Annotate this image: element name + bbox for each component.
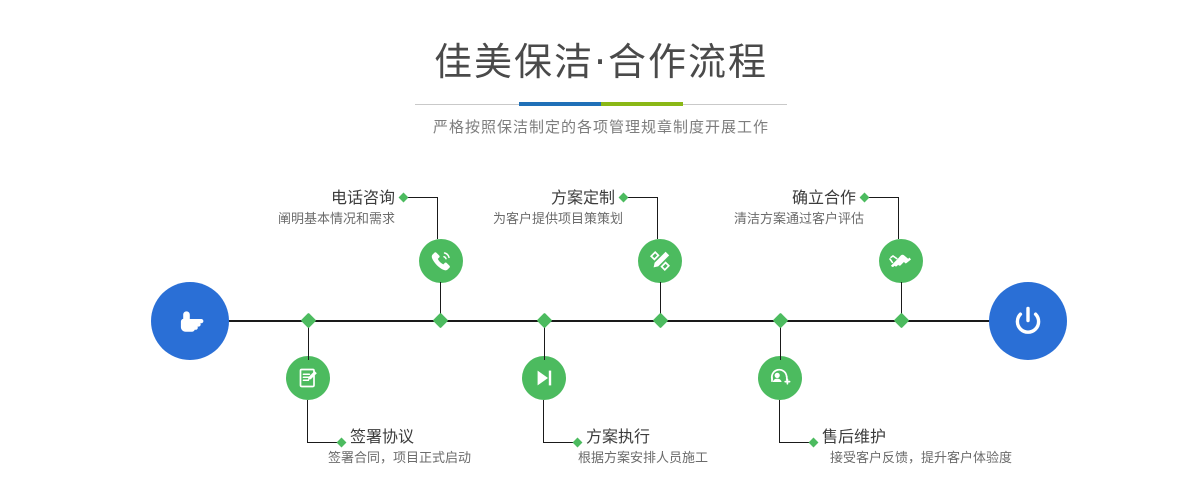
step-desc-6: 接受客户反馈，提升客户体验度 bbox=[830, 450, 1122, 468]
step-title-2: 签署协议 bbox=[350, 427, 610, 447]
timeline-end-node bbox=[989, 282, 1067, 360]
timeline-marker-3 bbox=[653, 313, 669, 329]
step-node-3[interactable] bbox=[638, 239, 682, 283]
pointing-hand-icon bbox=[168, 299, 212, 343]
timeline-start-node bbox=[151, 282, 229, 360]
divider-blue-segment bbox=[519, 102, 601, 106]
step-label-3: 方案定制 为客户提供项目策策划 bbox=[355, 188, 615, 229]
step-label-5: 确立合作 清洁方案通过客户评估 bbox=[596, 188, 856, 229]
step-node-2[interactable] bbox=[286, 356, 330, 400]
play-skip-icon bbox=[531, 365, 557, 391]
flow-diagram-page: 佳美保洁·合作流程 严格按照保洁制定的各项管理规章制度开展工作 bbox=[0, 0, 1202, 502]
handshake-icon bbox=[888, 248, 914, 274]
timeline-marker-5 bbox=[894, 313, 910, 329]
timeline-marker-1 bbox=[433, 313, 449, 329]
timeline-marker-2 bbox=[301, 313, 317, 329]
step-node-1[interactable] bbox=[419, 239, 463, 283]
step-label-4: 方案执行 根据方案安排人员施工 bbox=[586, 427, 846, 468]
page-title: 佳美保洁·合作流程 bbox=[0, 40, 1202, 84]
step-desc-5: 清洁方案通过客户评估 bbox=[596, 211, 864, 229]
phone-call-icon bbox=[428, 248, 454, 274]
pencil-ruler-icon bbox=[647, 248, 673, 274]
step-title-5: 确立合作 bbox=[596, 188, 856, 208]
timeline-marker-6 bbox=[773, 313, 789, 329]
page-subtitle: 严格按照保洁制定的各项管理规章制度开展工作 bbox=[0, 117, 1202, 137]
step-node-4[interactable] bbox=[522, 356, 566, 400]
step-title-3: 方案定制 bbox=[355, 188, 615, 208]
step-desc-2: 签署合同，项目正式启动 bbox=[328, 450, 610, 468]
step-label-6: 售后维护 接受客户反馈，提升客户体验度 bbox=[822, 427, 1122, 468]
power-icon bbox=[1006, 299, 1050, 343]
document-edit-icon bbox=[295, 365, 321, 391]
step-node-5[interactable] bbox=[879, 239, 923, 283]
step-title-4: 方案执行 bbox=[586, 427, 846, 447]
step-desc-3: 为客户提供项目策策划 bbox=[355, 211, 623, 229]
header: 佳美保洁·合作流程 严格按照保洁制定的各项管理规章制度开展工作 bbox=[0, 0, 1202, 137]
title-divider bbox=[415, 100, 787, 108]
step-label-2: 签署协议 签署合同，项目正式启动 bbox=[350, 427, 610, 468]
step-node-6[interactable] bbox=[758, 356, 802, 400]
timeline-marker-4 bbox=[537, 313, 553, 329]
step-title-6: 售后维护 bbox=[822, 427, 1122, 447]
divider-green-segment bbox=[601, 102, 683, 106]
customer-service-add-icon bbox=[767, 365, 793, 391]
step-desc-4: 根据方案安排人员施工 bbox=[578, 450, 846, 468]
